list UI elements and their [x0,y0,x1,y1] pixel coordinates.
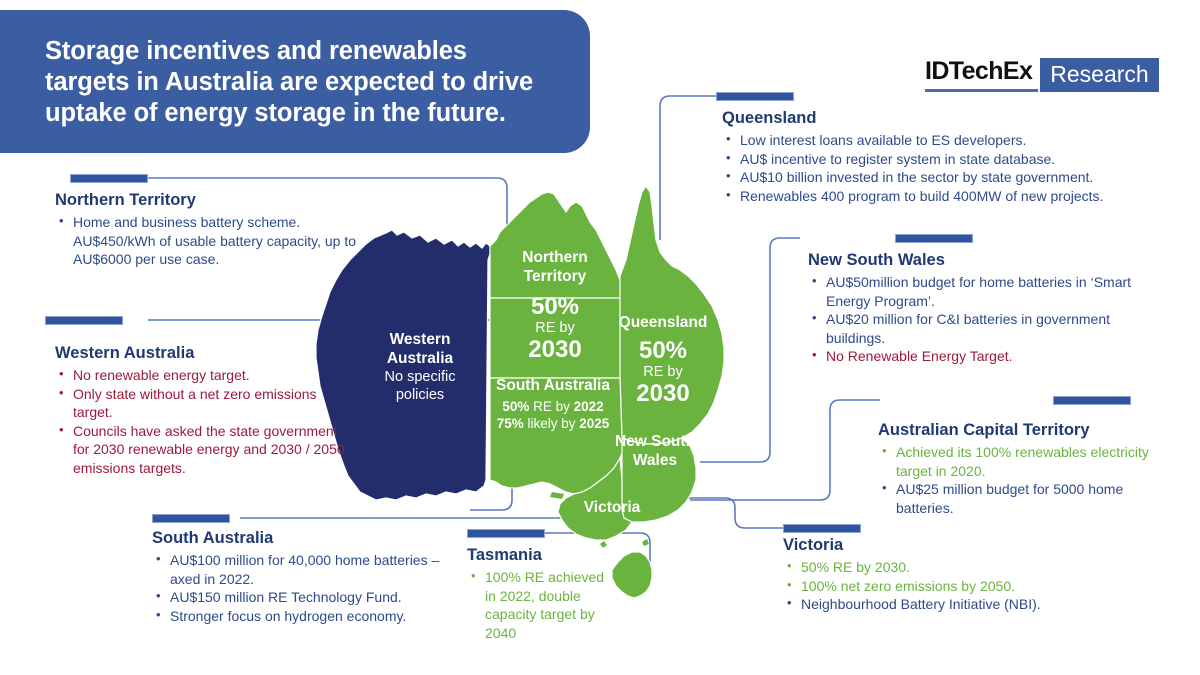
callout-bullet: Low interest loans available to ES devel… [722,131,1182,150]
callout-bullet-list: Achieved its 100% renewables electricity… [878,443,1178,517]
tab-bar-south-australia [152,514,230,523]
callout-new-south-wales: New South Wales AU$50million budget for … [808,250,1168,366]
tab-bar-queensland [716,92,794,101]
map-region-new-south-wales[interactable] [622,438,696,522]
logo-brand-text: IDTechEx [925,58,1038,92]
callout-bullet: Only state without a net zero emissions … [55,385,345,422]
callout-bullet: 100% RE achieved in 2022, double capacit… [467,568,607,642]
callout-bullet-list: AU$50million budget for home batteries i… [808,273,1168,366]
callout-heading: New South Wales [808,250,1168,271]
callout-bullet-list: AU$100 million for 40,000 home batteries… [152,551,472,625]
callout-bullet: AU$50million budget for home batteries i… [808,273,1168,310]
infographic-canvas: Storage incentives and renewables target… [0,0,1200,675]
tab-bar-northern-territory [70,174,148,183]
callout-bullet-list: Low interest loans available to ES devel… [722,131,1182,205]
callout-queensland: Queensland Low interest loans available … [722,108,1182,205]
map-island-kangaroo [550,492,564,499]
callout-heading: Australian Capital Territory [878,420,1178,441]
map-island-bass-strait-b [642,539,649,546]
title-banner: Storage incentives and renewables target… [0,10,590,153]
callout-south-australia: South Australia AU$100 million for 40,00… [152,528,472,625]
callout-northern-territory: Northern Territory Home and business bat… [55,190,385,269]
tab-bar-new-south-wales [895,234,973,243]
map-region-tasmania[interactable] [612,552,652,598]
idtechex-research-logo[interactable]: IDTechEx Research [925,58,1159,92]
title-line-3: uptake of energy storage in the future. [45,98,560,129]
title-line-2: targets in Australia are expected to dri… [45,67,560,98]
callout-bullet: AU$150 million RE Technology Fund. [152,588,472,607]
callout-bullet: No renewable energy target. [55,366,345,385]
tab-bar-western-australia [45,316,123,325]
tab-bar-act [1053,396,1131,405]
callout-heading: South Australia [152,528,472,549]
callout-heading: Queensland [722,108,1182,129]
tab-bar-victoria [783,524,861,533]
map-region-northern-territory[interactable] [490,192,620,298]
callout-bullet: Councils have asked the state government… [55,422,345,478]
callout-bullet: AU$10 billion invested in the sector by … [722,168,1182,187]
callout-bullet-list: Home and business battery scheme. AU$450… [55,213,385,269]
callout-bullet: AU$20 million for C&I batteries in gover… [808,310,1168,347]
callout-bullet-list: 50% RE by 2030. 100% net zero emissions … [783,558,1103,614]
callout-bullet: AU$100 million for 40,000 home batteries… [152,551,472,588]
map-region-nt-body[interactable] [490,298,620,378]
title-line-1: Storage incentives and renewables [45,36,560,67]
callout-tasmania: Tasmania 100% RE achieved in 2022, doubl… [467,545,607,642]
callout-heading: Tasmania [467,545,607,566]
callout-bullet: No Renewable Energy Target. [808,347,1168,366]
callout-bullet: Home and business battery scheme. AU$450… [55,213,385,269]
callout-bullet-list: 100% RE achieved in 2022, double capacit… [467,568,607,642]
callout-bullet: Neighbourhood Battery Initiative (NBI). [783,595,1103,614]
callout-heading: Western Australia [55,343,345,364]
callout-bullet: Achieved its 100% renewables electricity… [878,443,1178,480]
callout-heading: Victoria [783,535,1103,556]
callout-bullet: AU$25 million budget for 5000 home batte… [878,480,1178,517]
callout-bullet: Stronger focus on hydrogen economy. [152,607,472,626]
map-region-south-australia[interactable] [490,378,624,494]
callout-victoria: Victoria 50% RE by 2030. 100% net zero e… [783,535,1103,614]
map-region-queensland[interactable] [620,186,724,444]
callout-bullet: 50% RE by 2030. [783,558,1103,577]
callout-bullet-list: No renewable energy target. Only state w… [55,366,345,477]
callout-bullet: 100% net zero emissions by 2050. [783,577,1103,596]
callout-bullet: Renewables 400 program to build 400MW of… [722,187,1182,206]
callout-australian-capital-territory: Australian Capital Territory Achieved it… [878,420,1178,517]
callout-heading: Northern Territory [55,190,385,211]
callout-bullet: AU$ incentive to register system in stat… [722,150,1182,169]
logo-product-text: Research [1040,58,1158,92]
callout-western-australia: Western Australia No renewable energy ta… [55,343,345,477]
